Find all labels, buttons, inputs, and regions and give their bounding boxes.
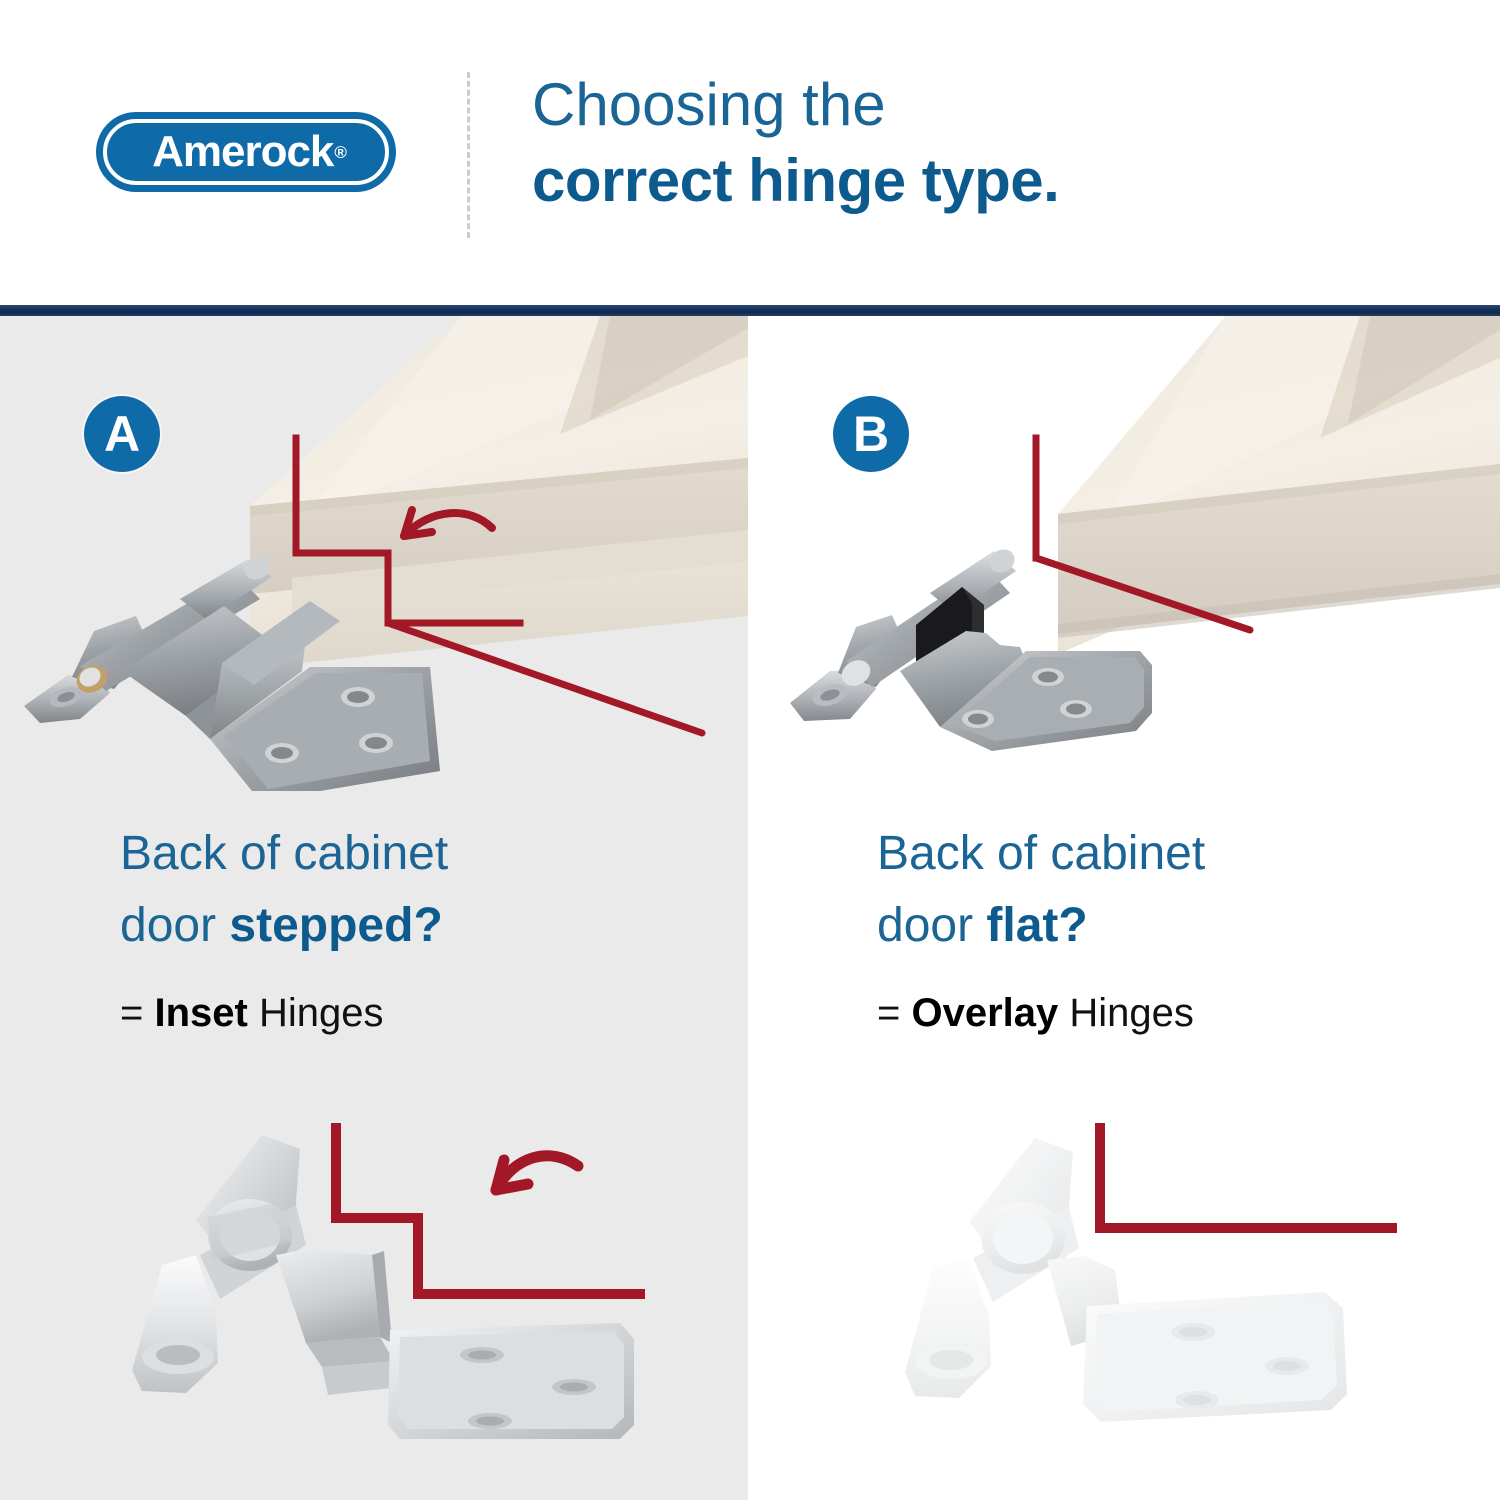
header: Amerock® Choosing the correct hinge type…	[0, 0, 1500, 305]
panel-a-answer-bold: Inset	[154, 991, 247, 1035]
panel-a-question-line2: door stepped?	[120, 890, 740, 962]
panel-a-question-bold: stepped?	[229, 899, 442, 952]
callout-right-angle-bracket-b-bottom	[1074, 1116, 1474, 1416]
panel-a-answer-prefix: =	[120, 991, 154, 1035]
title-period: .	[1043, 147, 1059, 214]
panel-b-question-line1: Back of cabinet	[877, 818, 1497, 890]
panel-a-text: Back of cabinet door stepped? = Inset Hi…	[120, 818, 740, 1038]
badge-b: B	[833, 396, 909, 472]
title-line-1: Choosing the	[532, 68, 1432, 142]
amerock-logo: Amerock®	[96, 112, 396, 192]
navy-divider-bar	[0, 305, 1500, 316]
panel-a-answer-suffix: Hinges	[248, 991, 384, 1035]
panel-b-answer-bold: Overlay	[911, 991, 1058, 1035]
header-dashed-divider	[467, 72, 470, 238]
panel-b-answer-prefix: =	[877, 991, 911, 1035]
infographic-root: Amerock® Choosing the correct hinge type…	[0, 0, 1500, 1500]
panel-b-answer: = Overlay Hinges	[877, 988, 1497, 1038]
panel-b-question-plain: door	[877, 899, 986, 952]
registered-trademark-icon: ®	[334, 144, 346, 161]
panel-a-inset: A Back of cabinet door stepped? = Inset …	[0, 316, 748, 1500]
panel-b-text: Back of cabinet door flat? = Overlay Hin…	[877, 818, 1497, 1038]
page-title: Choosing the correct hinge type.	[532, 68, 1432, 220]
panel-b-question-bold: flat?	[986, 899, 1087, 952]
panel-b-question-line2: door flat?	[877, 890, 1497, 962]
badge-b-label: B	[853, 405, 889, 463]
panel-b-answer-suffix: Hinges	[1058, 991, 1194, 1035]
title-emphasis: correct hinge type	[532, 147, 1043, 214]
panel-a-answer: = Inset Hinges	[120, 988, 740, 1038]
callout-stepped-bracket-a-bottom	[310, 1116, 730, 1416]
inset-hinge-image-top	[10, 471, 450, 791]
panel-a-question-plain: door	[120, 899, 229, 952]
badge-a-label: A	[104, 405, 140, 463]
logo-wordmark: Amerock®	[96, 112, 396, 192]
logo-brand-name: Amerock	[152, 127, 333, 177]
title-line-2: correct hinge type.	[532, 142, 1432, 220]
badge-a: A	[84, 396, 160, 472]
panel-a-question-line1: Back of cabinet	[120, 818, 740, 890]
panel-b-overlay: B Back of cabinet door flat? = Overlay H…	[748, 316, 1500, 1500]
overlay-hinge-image-top	[780, 481, 1200, 761]
